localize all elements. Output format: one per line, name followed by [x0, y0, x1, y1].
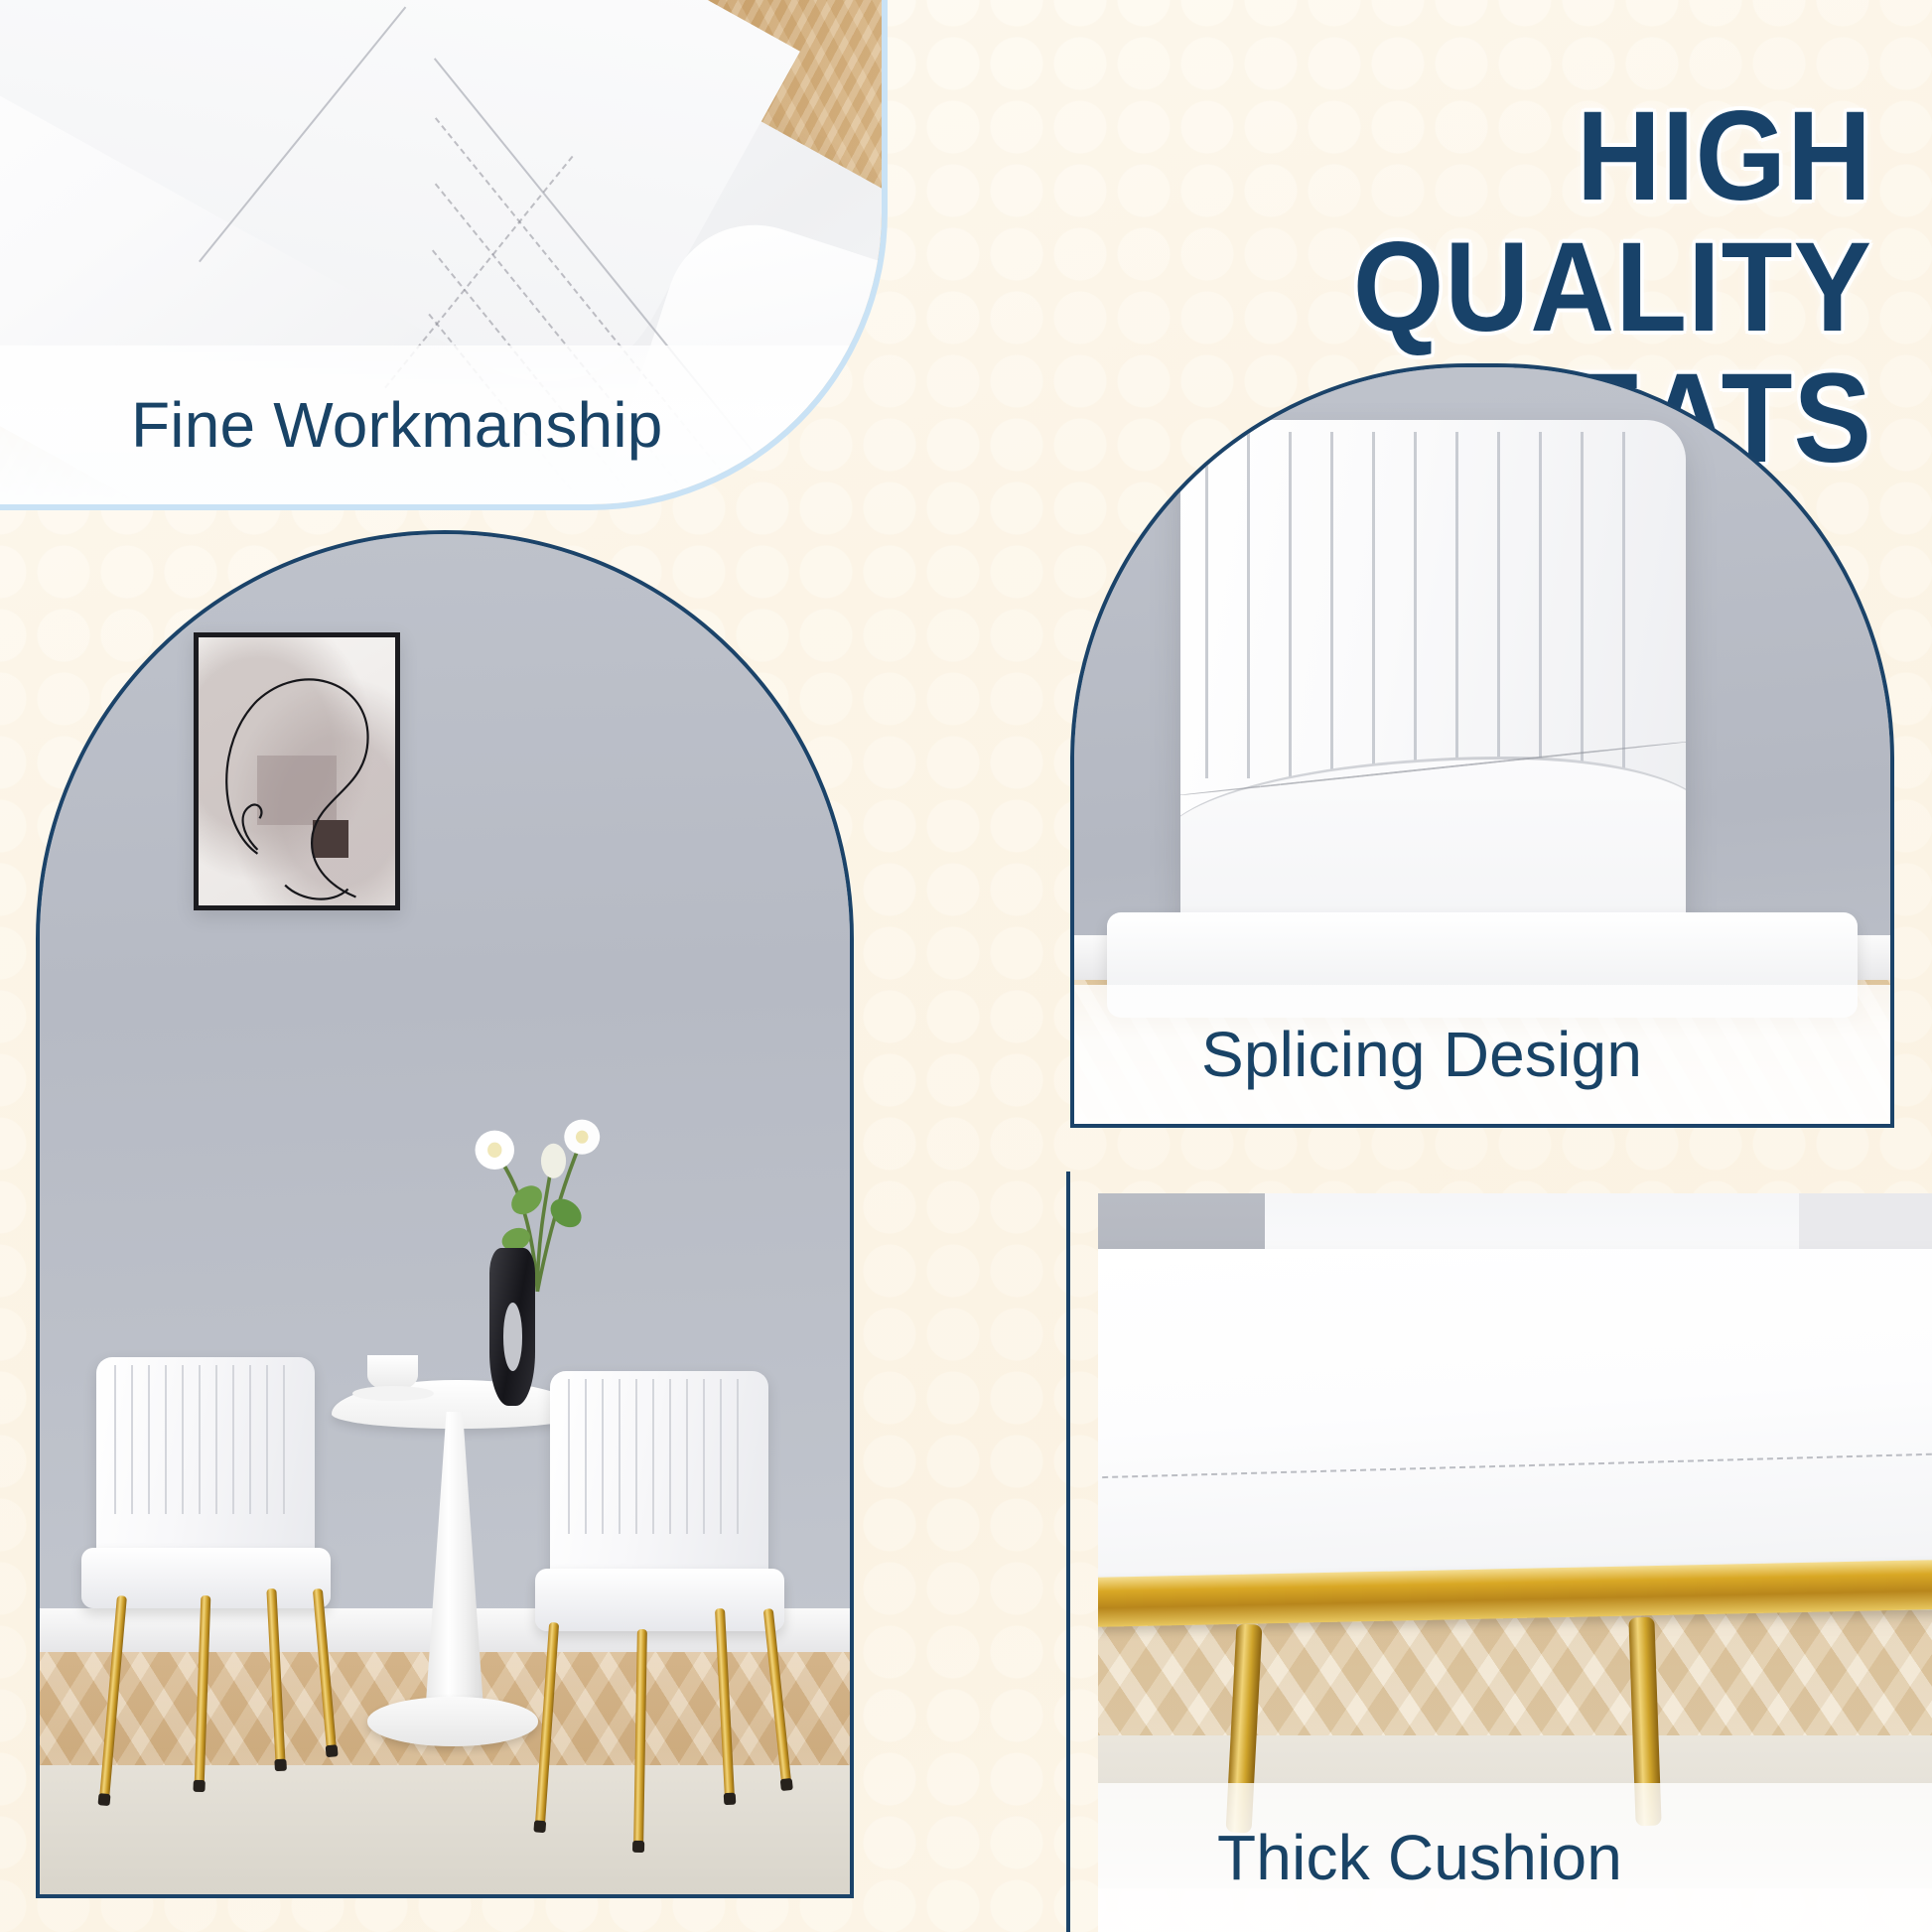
- panel-room-scene: [36, 530, 854, 1898]
- cushion-seam-stitch: [1102, 1452, 1932, 1478]
- wall-art-frame: [194, 632, 400, 911]
- caption-fine-workmanship: Fine Workmanship: [0, 345, 882, 504]
- caption-splicing-design: Splicing Design: [1074, 985, 1890, 1124]
- caption-thick-cushion: Thick Cushion: [1098, 1783, 1932, 1932]
- chair-backrest: [96, 1357, 315, 1559]
- cushion-panel-left-border: [1066, 1172, 1070, 1932]
- cup-saucer: [352, 1386, 434, 1401]
- panel-fine-workmanship: Fine Workmanship: [0, 0, 888, 510]
- vase-opening: [503, 1303, 523, 1371]
- vertical-channel-stitching: [1205, 432, 1661, 779]
- headline-line-1: HIGH QUALITY: [1068, 91, 1872, 353]
- chair-rib-stitching: [114, 1365, 298, 1514]
- wall-art-line-drawing: [199, 637, 395, 911]
- caption-label: Fine Workmanship: [131, 388, 663, 462]
- caption-label: Splicing Design: [1201, 1018, 1642, 1091]
- caption-label: Thick Cushion: [1217, 1821, 1622, 1894]
- panel-splicing-design: Splicing Design: [1070, 363, 1894, 1128]
- table-base: [367, 1697, 537, 1745]
- chair-rib-stitching: [568, 1379, 752, 1534]
- dining-chair-right: [550, 1371, 768, 1738]
- chair-backrest: [550, 1371, 768, 1581]
- chair-back-closeup: [1180, 420, 1687, 980]
- chair-seat-cushion: [535, 1569, 784, 1631]
- thick-seat-cushion: [1098, 1249, 1932, 1596]
- panel-thick-cushion: Thick Cushion: [1066, 1172, 1932, 1932]
